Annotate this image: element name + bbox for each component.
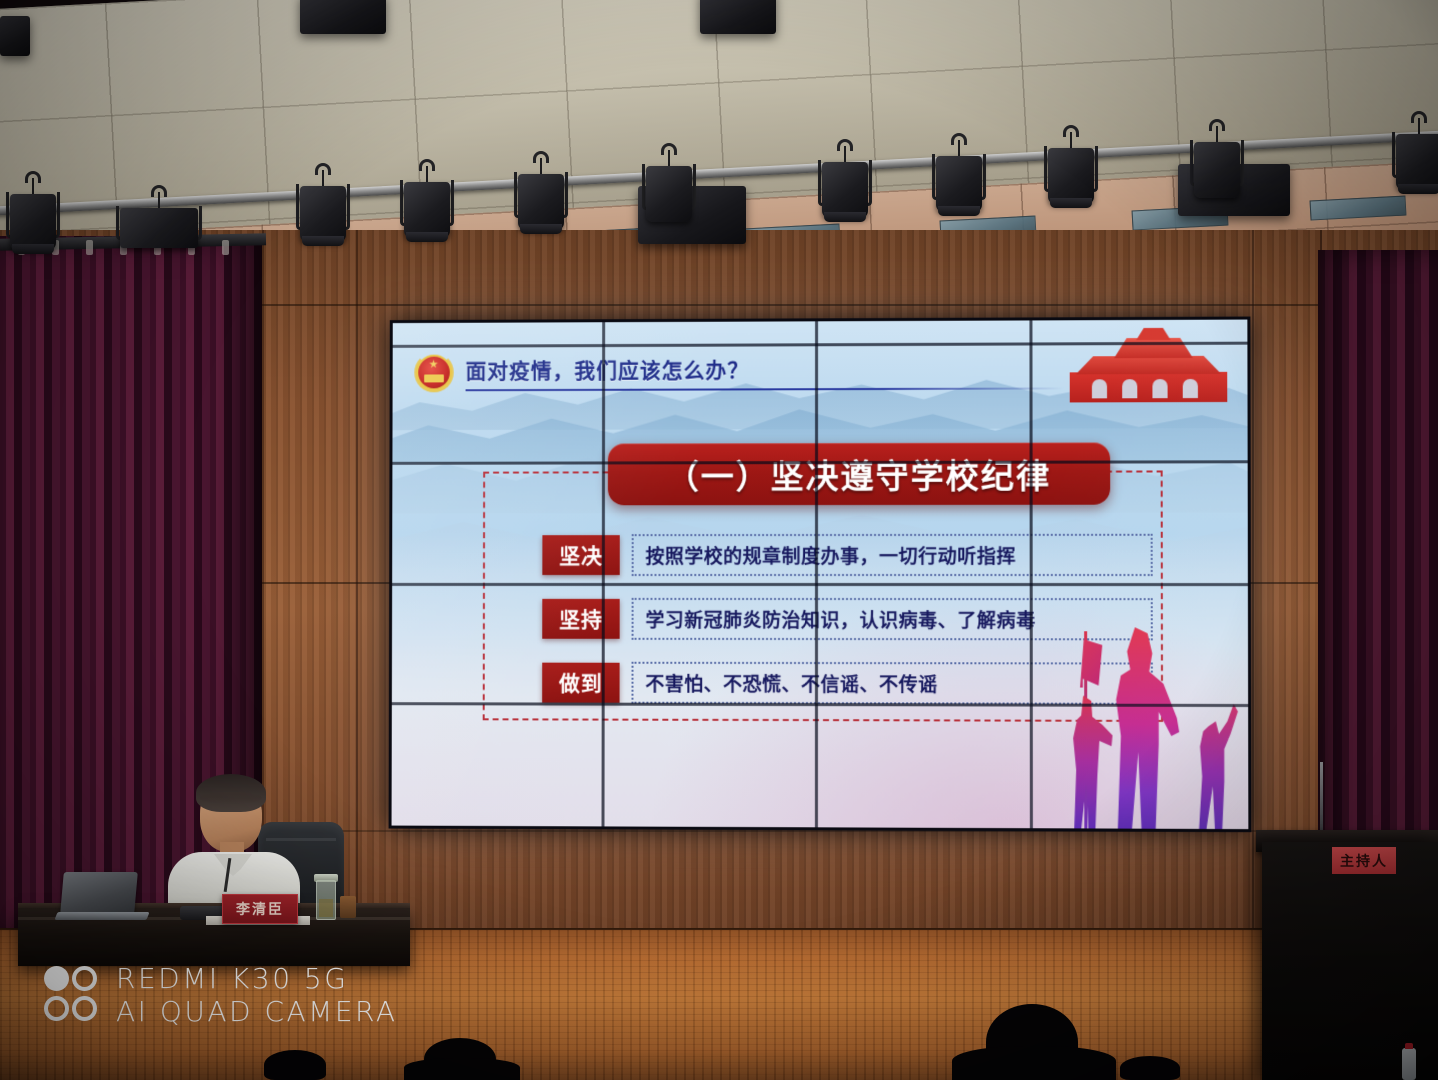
watermark-tagline: AI QUAD CAMERA xyxy=(116,995,398,1028)
water-bottle xyxy=(1402,1048,1416,1080)
audience-shoulders xyxy=(404,1058,520,1080)
auditorium-photo: 面对疫情，我们应该怎么办？ （一）坚决遵守学校纪律 xyxy=(0,0,1438,1080)
desk-cup xyxy=(340,896,356,918)
row-tag: 做到 xyxy=(542,663,619,703)
podium-sign: 主持人 xyxy=(1332,847,1396,874)
slide-header-title: 面对疫情，我们应该怎么办？ xyxy=(466,355,750,386)
podium-microphone xyxy=(1320,762,1323,834)
laptop[interactable] xyxy=(56,872,142,918)
stage-curtain-right xyxy=(1318,250,1438,890)
row-text: 不害怕、不恐慌、不信谣、不传谣 xyxy=(645,669,937,697)
row-tag: 坚决 xyxy=(542,535,619,575)
podium-sign-label: 主持人 xyxy=(1340,851,1388,871)
row-text: 学习新冠肺炎防治知识，认识病毒、了解病毒 xyxy=(645,605,1035,632)
red-silhouettes-with-flag-icon xyxy=(1062,609,1240,829)
presentation-slide: 面对疫情，我们应该怎么办？ （一）坚决遵守学校纪律 xyxy=(392,320,1249,830)
row-tag: 坚持 xyxy=(542,599,619,639)
slide-section-banner: （一）坚决遵守学校纪律 xyxy=(608,442,1110,505)
watermark-model: REDMI K30 5G xyxy=(116,962,398,995)
led-video-wall[interactable]: 面对疫情，我们应该怎么办？ （一）坚决遵守学校纪律 xyxy=(389,317,1252,833)
ceiling-speaker xyxy=(300,0,386,34)
row-text: 按照学校的规章制度办事，一切行动听指挥 xyxy=(646,541,1017,568)
ceiling-speaker xyxy=(0,16,30,56)
china-national-emblem-icon xyxy=(414,351,454,395)
audience-shoulders xyxy=(952,1046,1116,1080)
audience-head xyxy=(1120,1056,1180,1080)
slide-section-banner-label: （一）坚决遵守学校纪律 xyxy=(666,450,1051,499)
presenter-nameplate: 李清臣 xyxy=(222,894,298,924)
camera-watermark: REDMI K30 5G AI QUAD CAMERA xyxy=(44,962,398,1028)
tiananmen-gate-icon xyxy=(1066,324,1234,403)
presenter-nameplate-label: 李清臣 xyxy=(236,899,284,919)
tea-glass xyxy=(316,880,336,920)
row-body: 按照学校的规章制度办事，一切行动听指挥 xyxy=(632,534,1153,576)
ceiling-speaker xyxy=(700,0,776,34)
slide-row: 坚决 按照学校的规章制度办事，一切行动听指挥 xyxy=(542,533,1152,577)
audience-head xyxy=(264,1050,326,1080)
quad-camera-icon xyxy=(44,964,100,1026)
